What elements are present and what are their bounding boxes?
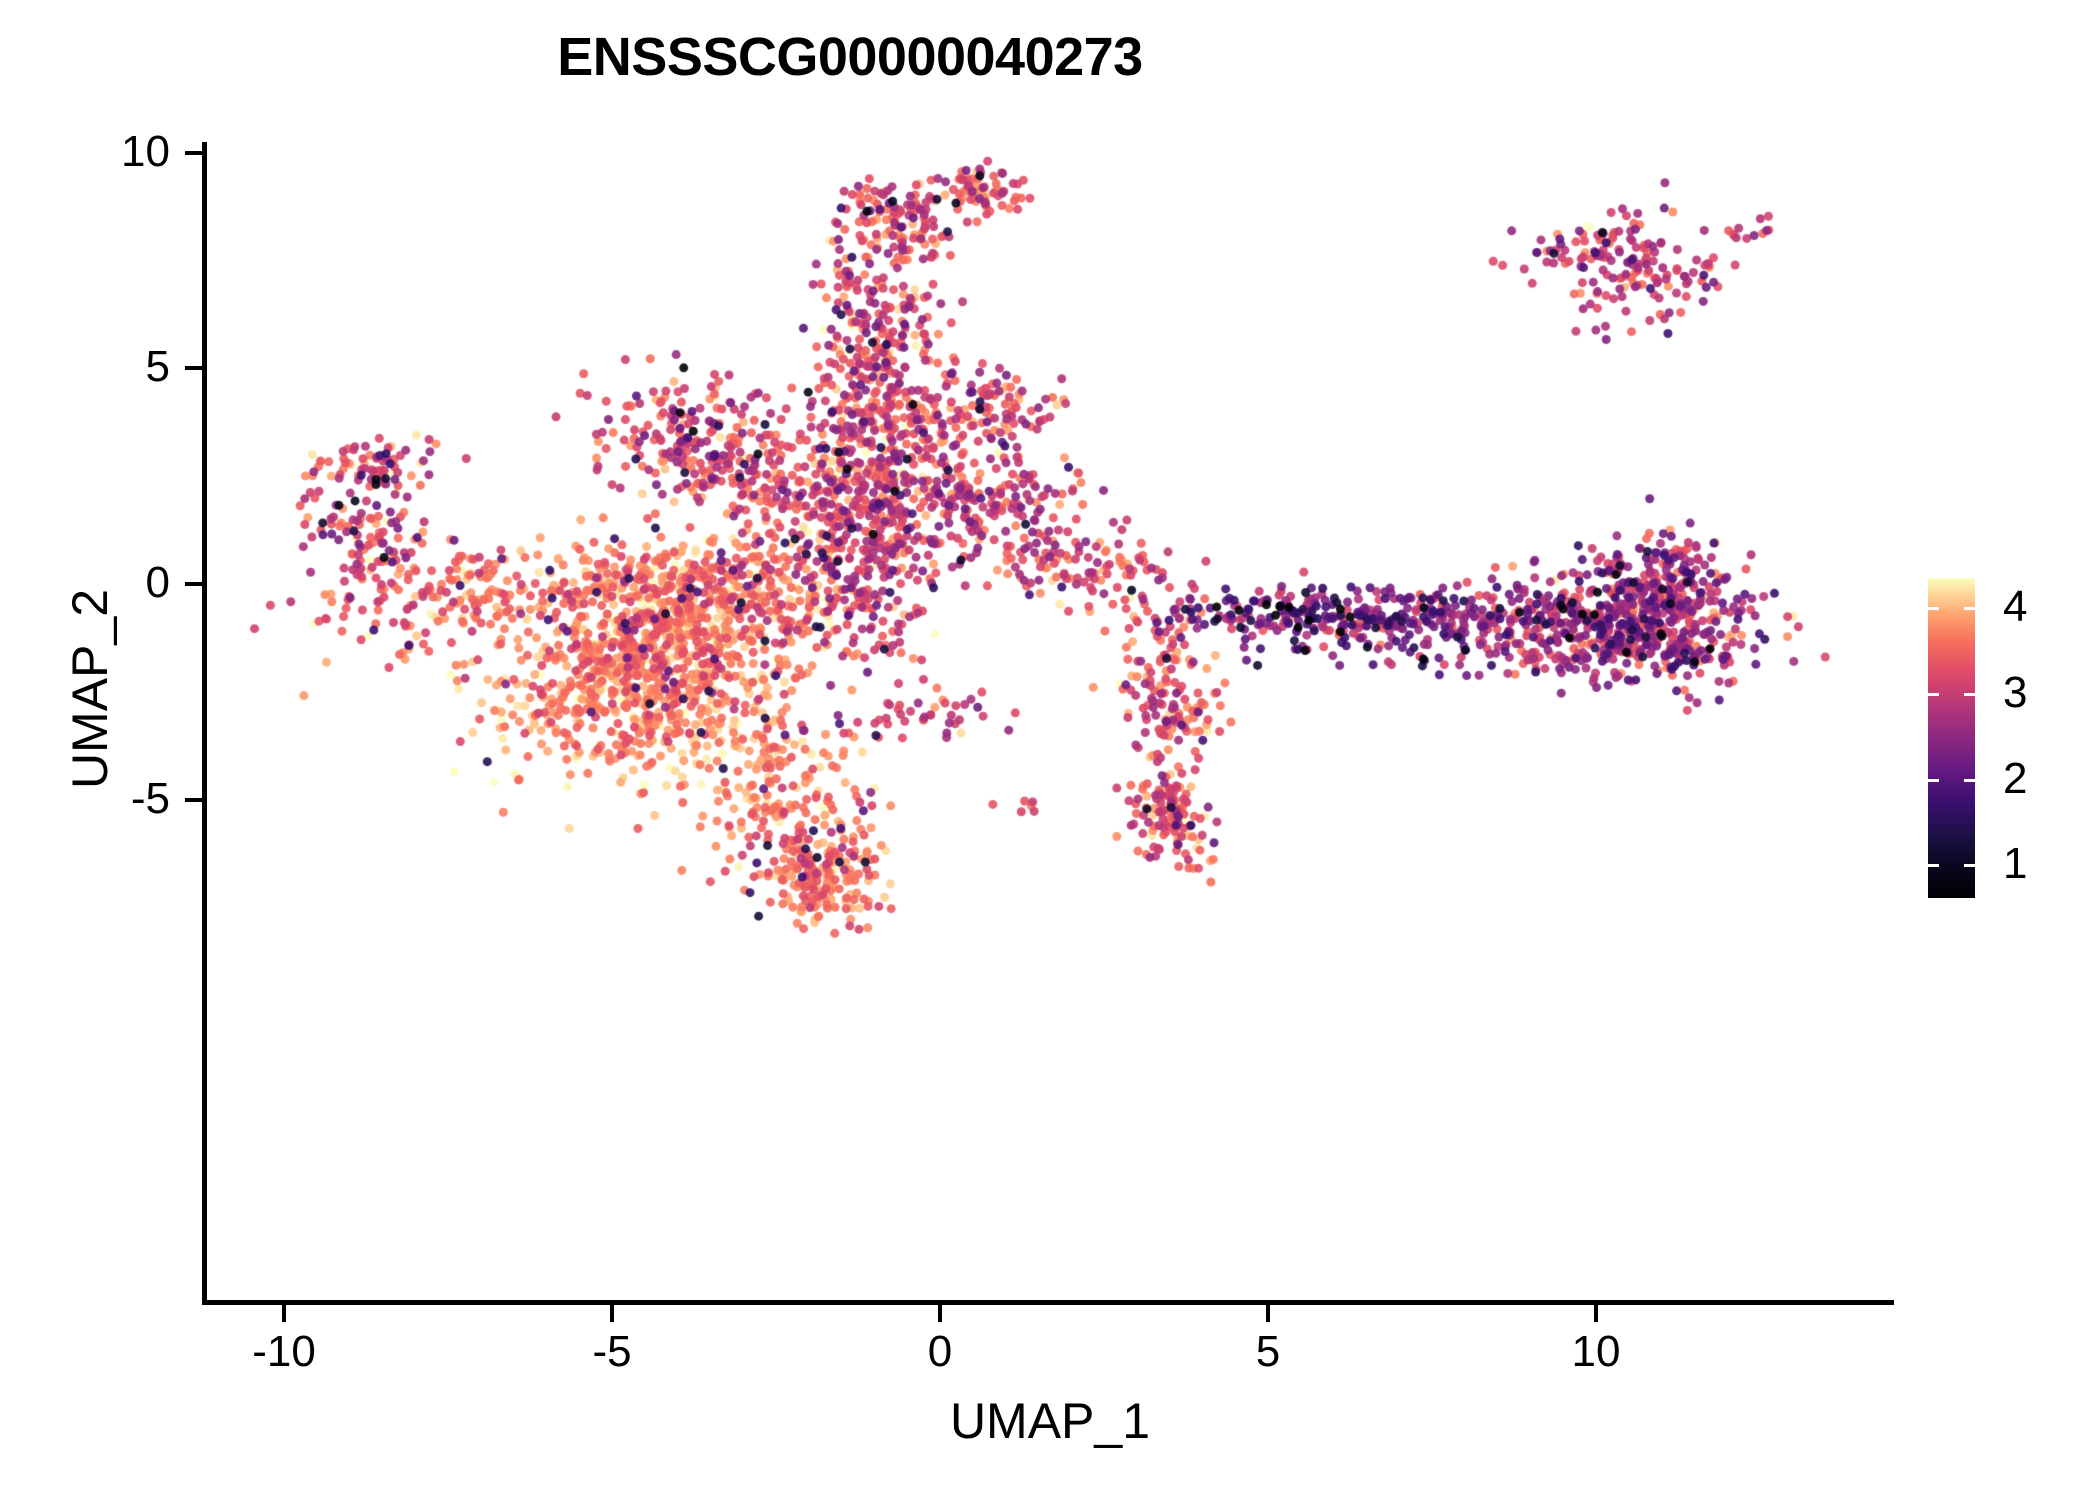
colorbar-tick-label: 3 bbox=[2003, 671, 2073, 715]
colorbar-tick-label: 4 bbox=[2003, 585, 2073, 629]
colorbar-tick-mark bbox=[1964, 779, 1975, 782]
colorbar-tick-mark bbox=[1928, 864, 1939, 867]
colorbar-tick-label: 1 bbox=[2003, 842, 2073, 886]
colorbar-tick-mark bbox=[1928, 693, 1939, 696]
y-tick-label: 10 bbox=[10, 130, 170, 174]
x-tick-mark bbox=[1594, 1305, 1598, 1322]
colorbar-legend bbox=[1928, 578, 1975, 898]
x-axis-label: UMAP_1 bbox=[205, 1392, 1895, 1450]
x-tick-label: 5 bbox=[1168, 1330, 1368, 1374]
y-tick-mark bbox=[185, 798, 202, 802]
x-tick-mark bbox=[938, 1305, 942, 1322]
x-tick-label: -5 bbox=[512, 1330, 712, 1374]
x-tick-label: 0 bbox=[840, 1330, 1040, 1374]
y-axis-label: UMAP_2 bbox=[61, 289, 119, 1089]
y-tick-mark bbox=[185, 151, 202, 155]
x-tick-label: -10 bbox=[184, 1330, 384, 1374]
colorbar-tick-mark bbox=[1964, 864, 1975, 867]
y-axis-line bbox=[202, 142, 207, 1305]
colorbar-tick-mark bbox=[1964, 693, 1975, 696]
x-axis-line bbox=[202, 1300, 1894, 1305]
colorbar-tick-label: 2 bbox=[2003, 757, 2073, 801]
x-tick-mark bbox=[1266, 1305, 1270, 1322]
y-tick-mark bbox=[185, 582, 202, 586]
x-tick-mark bbox=[610, 1305, 614, 1322]
page-title: ENSSSCG00000040273 bbox=[0, 26, 1700, 88]
umap-feature-plot: ENSSSCG00000040273 -50510 -10-50510 UMAP… bbox=[0, 0, 2100, 1500]
plot-panel bbox=[205, 142, 1889, 1302]
scatter-points-layer bbox=[205, 142, 1889, 1302]
y-tick-mark bbox=[185, 366, 202, 370]
colorbar-tick-mark bbox=[1928, 607, 1939, 610]
colorbar-tick-mark bbox=[1964, 607, 1975, 610]
colorbar-gradient bbox=[1928, 578, 1975, 898]
colorbar-tick-mark bbox=[1928, 779, 1939, 782]
x-tick-mark bbox=[282, 1305, 286, 1322]
x-tick-label: 10 bbox=[1496, 1330, 1696, 1374]
